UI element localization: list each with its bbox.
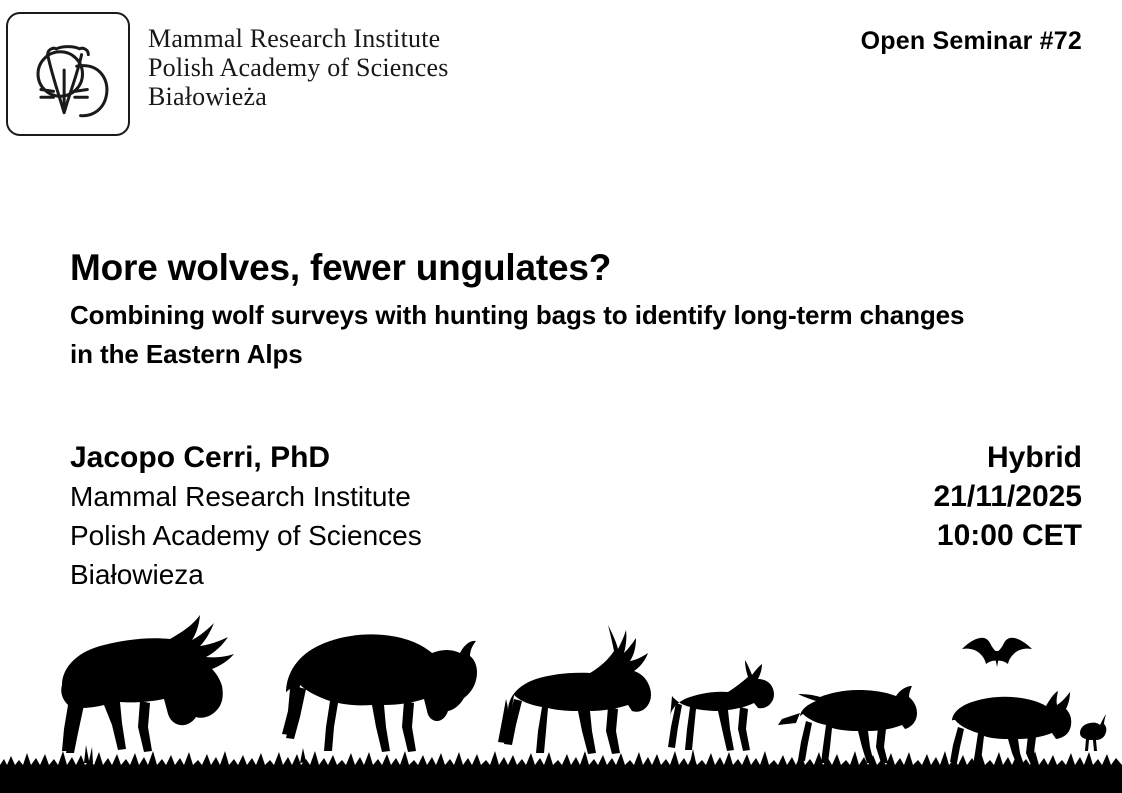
- institute-logo-block: Mammal Research Institute Polish Academy…: [6, 12, 449, 136]
- bat-silhouette: [962, 638, 1032, 667]
- roe-deer-silhouette: [668, 660, 774, 751]
- speaker-block: Jacopo Cerri, PhD Mammal Research Instit…: [70, 438, 422, 594]
- institute-name-line-2: Polish Academy of Sciences: [148, 53, 449, 82]
- institute-name: Mammal Research Institute Polish Academy…: [148, 24, 449, 111]
- lynx-silhouette: [950, 691, 1071, 765]
- title-block: More wolves, fewer ungulates? Combining …: [70, 246, 1030, 374]
- speaker-affiliation-line-3: Białowieza: [70, 555, 422, 594]
- event-date: 21/11/2025: [934, 477, 1083, 516]
- talk-title: More wolves, fewer ungulates?: [70, 246, 1030, 290]
- red-deer-silhouette: [498, 625, 651, 754]
- mri-mouse-head-logo-icon: [6, 12, 130, 136]
- event-time: 10:00 CET: [934, 516, 1083, 555]
- poster-header: Mammal Research Institute Polish Academy…: [0, 0, 1122, 150]
- lapwing-bird-silhouette: [1080, 714, 1106, 751]
- speaker-name: Jacopo Cerri, PhD: [70, 438, 422, 477]
- seminar-number-label: Open Seminar #72: [861, 27, 1082, 56]
- event-details-block: Hybrid 21/11/2025 10:00 CET: [934, 438, 1083, 555]
- institute-name-line-1: Mammal Research Institute: [148, 24, 449, 53]
- fauna-silhouette-band: [0, 593, 1122, 793]
- moose-silhouette: [61, 615, 234, 753]
- talk-subtitle: Combining wolf surveys with hunting bags…: [70, 296, 970, 374]
- event-format: Hybrid: [934, 438, 1083, 477]
- speaker-affiliation-line-1: Mammal Research Institute: [70, 477, 422, 516]
- speaker-affiliation-line-2: Polish Academy of Sciences: [70, 516, 422, 555]
- european-bison-silhouette: [282, 634, 477, 752]
- institute-name-line-3: Białowieża: [148, 82, 449, 111]
- seminar-poster: Mammal Research Institute Polish Academy…: [0, 0, 1122, 793]
- wolf-silhouette: [778, 686, 917, 763]
